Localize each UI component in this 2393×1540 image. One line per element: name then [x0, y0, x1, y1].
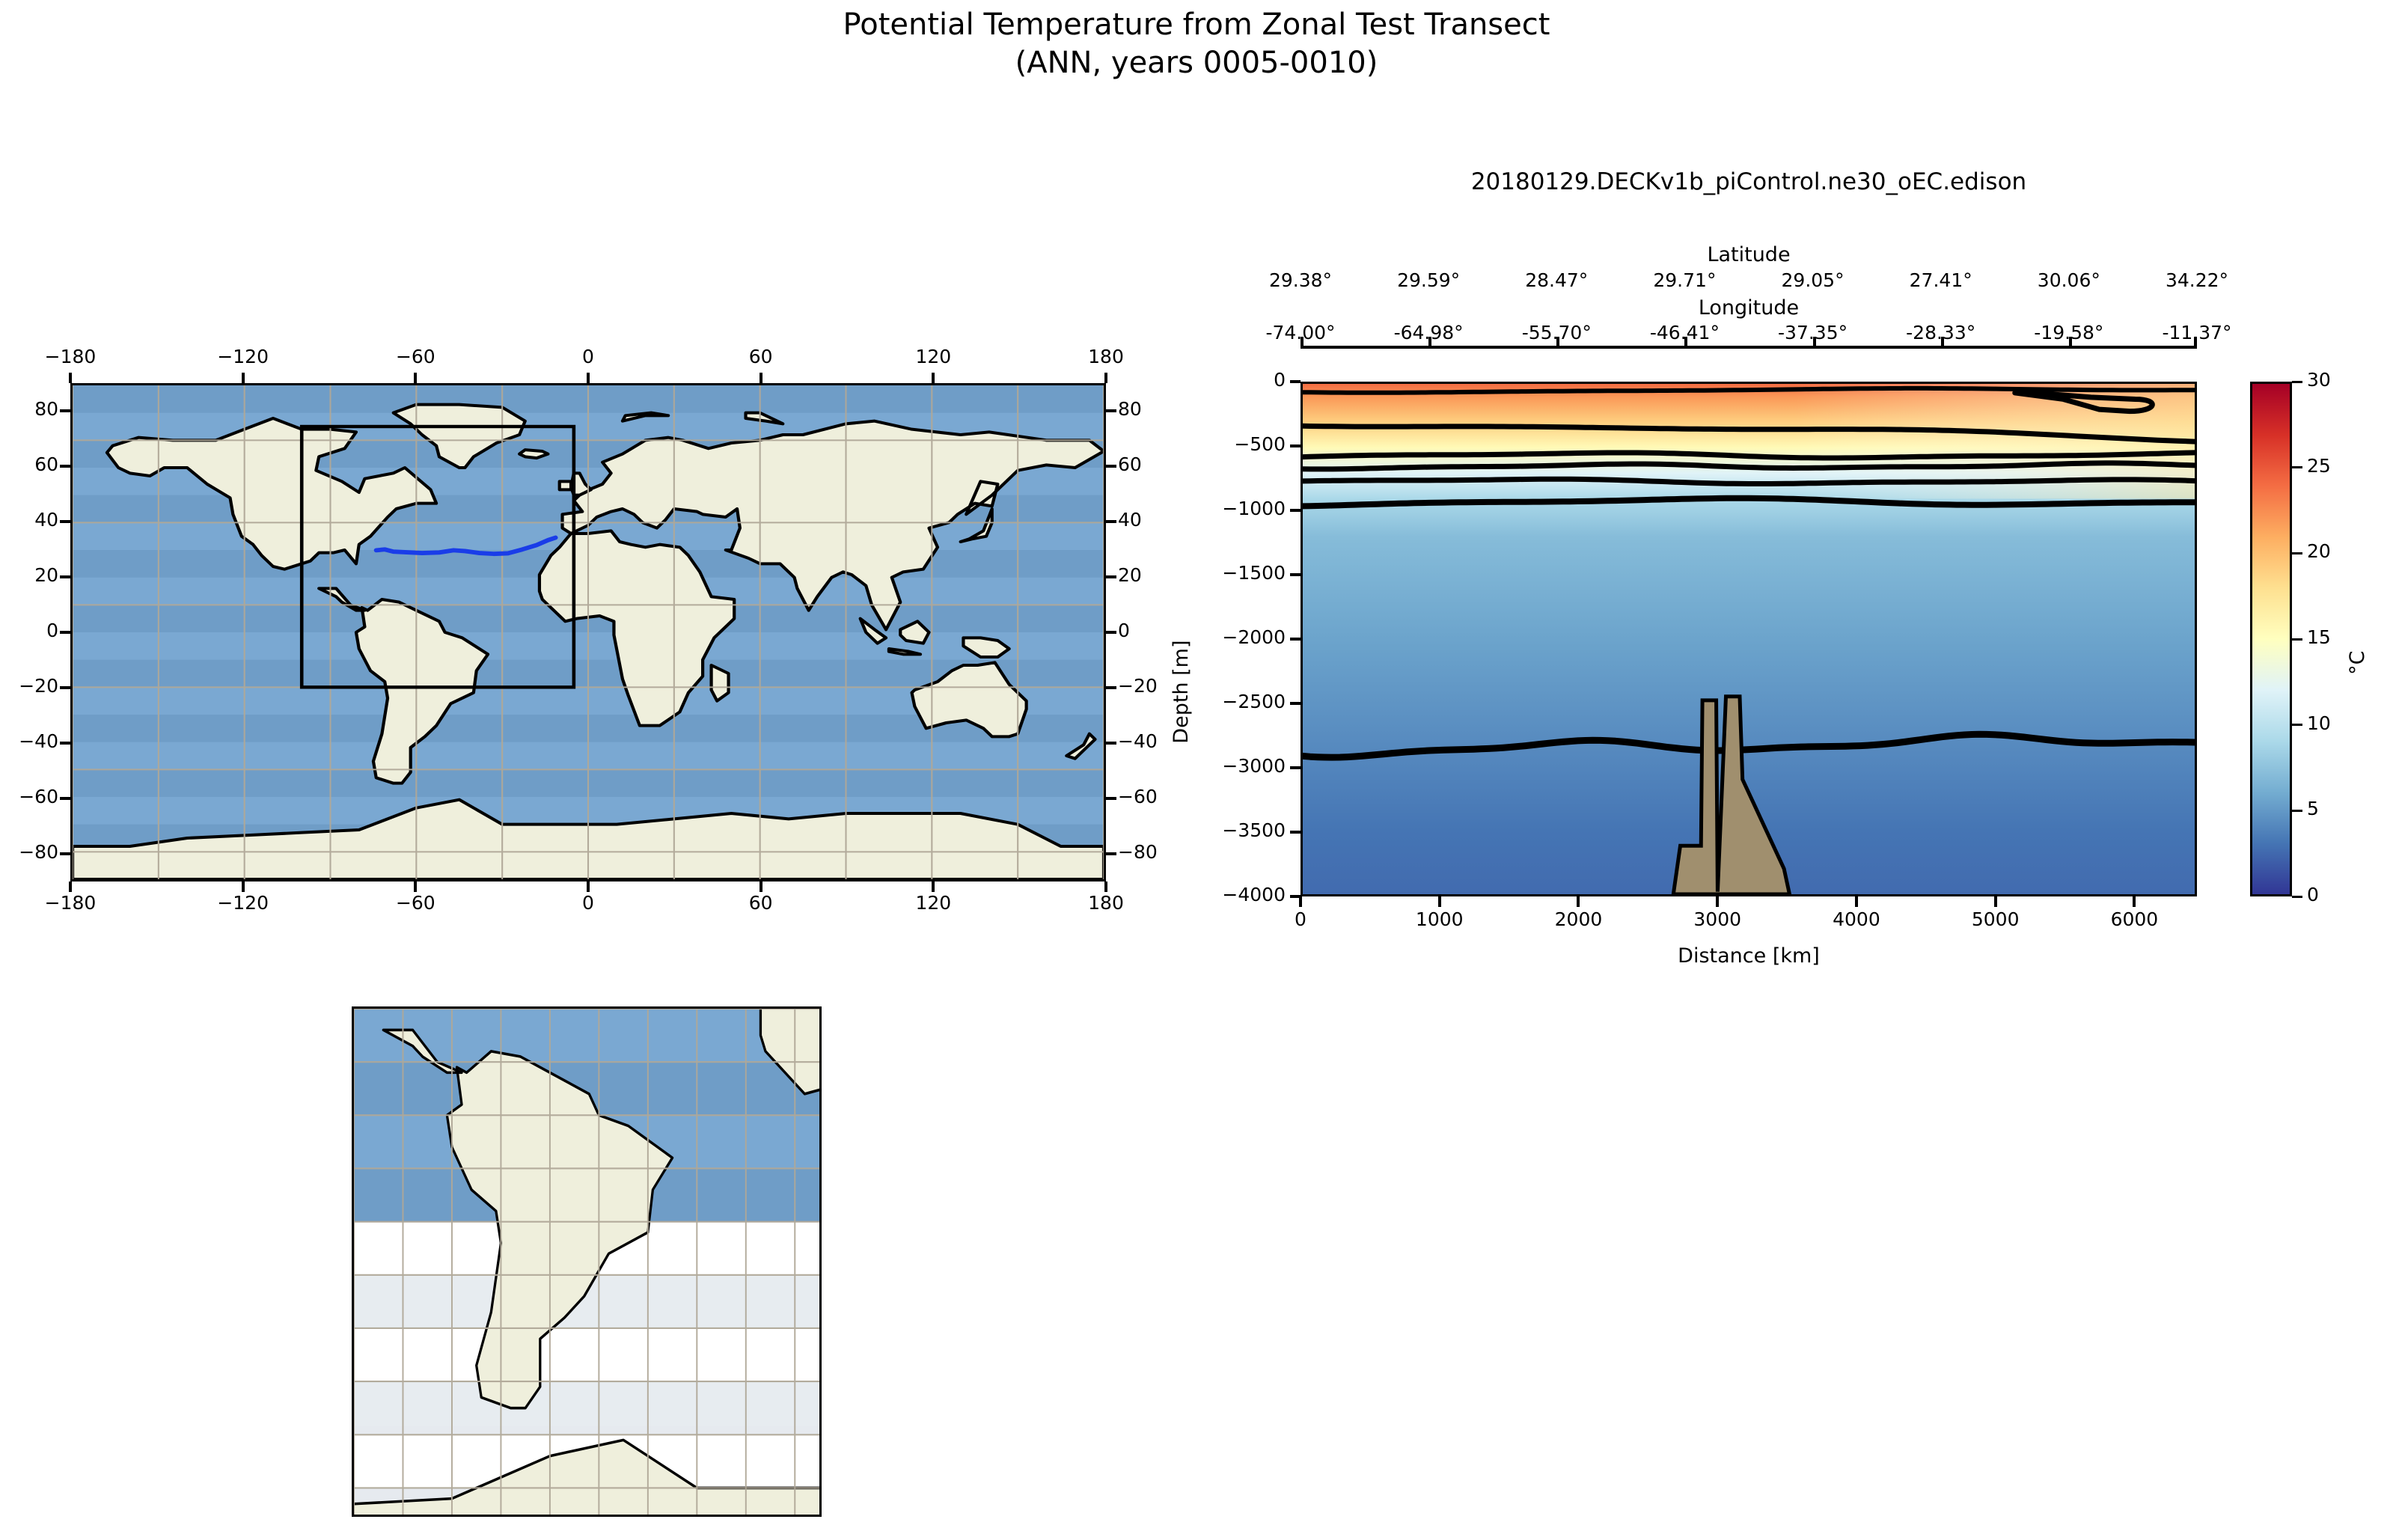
tick-label: 2000 — [1526, 908, 1631, 930]
tick-label: −60 — [370, 892, 460, 914]
tick-label: 0 — [543, 346, 633, 367]
axis-tick-mark — [1290, 831, 1301, 834]
tick-label: 29.59° — [1369, 269, 1488, 291]
temperature-colorbar[interactable] — [2250, 382, 2292, 896]
axis-tick-mark — [60, 409, 70, 412]
axis-tick-mark — [1290, 702, 1301, 705]
axis-tick-mark — [1556, 337, 1559, 347]
tick-label: 3000 — [1665, 908, 1770, 930]
tick-label: 5 — [2307, 798, 2359, 819]
axis-tick-mark — [1106, 631, 1116, 634]
world-map-frame[interactable] — [70, 383, 1106, 881]
axis-tick-mark — [1106, 852, 1116, 855]
axis-tick-mark — [1301, 346, 2197, 349]
tick-label: 28.47° — [1497, 269, 1616, 291]
axis-tick-mark — [60, 465, 70, 468]
colorbar-tick-mark — [2292, 466, 2302, 468]
axis-tick-mark — [932, 373, 935, 383]
axis-tick-mark — [60, 631, 70, 634]
axis-tick-mark — [1855, 896, 1858, 907]
tick-label: −60 — [370, 346, 460, 367]
depth-axis-title: Depth [m] — [1170, 641, 1193, 744]
axis-tick-mark — [1301, 337, 1304, 347]
colorbar-tick-mark — [2292, 896, 2302, 898]
axis-tick-mark — [1106, 575, 1116, 578]
axis-tick-mark — [1941, 337, 1944, 347]
colorbar-axis-title: °C — [2346, 651, 2369, 675]
axis-tick-mark — [1290, 509, 1301, 512]
axis-tick-mark — [1290, 766, 1301, 769]
tick-label: −3500 — [1181, 819, 1286, 841]
tick-label: 80 — [1118, 398, 1190, 420]
tick-label: 0 — [2307, 884, 2359, 905]
axis-tick-mark — [1813, 337, 1816, 347]
axis-tick-mark — [1577, 896, 1580, 907]
axis-tick-mark — [1994, 896, 1997, 907]
axis-tick-mark — [1290, 638, 1301, 641]
axis-tick-mark — [60, 742, 70, 745]
tick-label: 34.22° — [2137, 269, 2257, 291]
distance-axis-title: Distance [km] — [1301, 944, 2197, 968]
tick-label: −2000 — [1181, 626, 1286, 648]
tick-label: −2500 — [1181, 691, 1286, 712]
axis-tick-mark — [1290, 444, 1301, 447]
axis-tick-mark — [1438, 896, 1441, 907]
axis-tick-mark — [414, 881, 417, 892]
tick-label: 80 — [0, 398, 58, 420]
colorbar-tick-mark — [2292, 552, 2302, 554]
tick-label: 20 — [1118, 564, 1190, 586]
tick-label: 0 — [1118, 620, 1190, 641]
tick-label: 120 — [888, 346, 978, 367]
inset-map-frame[interactable] — [352, 1006, 822, 1517]
tick-label: −120 — [198, 892, 288, 914]
axis-tick-mark — [2069, 337, 2072, 347]
axis-tick-mark — [242, 373, 245, 383]
axis-tick-mark — [60, 852, 70, 855]
axis-tick-mark — [60, 575, 70, 578]
tick-label: 30 — [2307, 369, 2359, 391]
tick-label: 20 — [2307, 540, 2359, 562]
axis-tick-mark — [1290, 573, 1301, 576]
axis-tick-mark — [1106, 520, 1116, 523]
tick-label: 4000 — [1804, 908, 1909, 930]
tick-label: 1000 — [1387, 908, 1492, 930]
axis-tick-mark — [60, 520, 70, 523]
axis-tick-mark — [60, 797, 70, 800]
colorbar-tick-mark — [2292, 381, 2302, 383]
axis-tick-mark — [1106, 742, 1116, 745]
axis-tick-mark — [69, 373, 72, 383]
tick-label: −500 — [1181, 433, 1286, 455]
tick-label: 25 — [2307, 455, 2359, 477]
inset-map-canvas[interactable] — [354, 1009, 819, 1515]
tick-label: −80 — [0, 841, 58, 863]
world-map-canvas[interactable] — [73, 385, 1104, 879]
tick-label: 6000 — [2082, 908, 2186, 930]
transect-plot-frame[interactable] — [1301, 382, 2197, 896]
axis-tick-mark — [587, 373, 590, 383]
tick-label: −120 — [198, 346, 288, 367]
tick-label: 40 — [0, 509, 58, 531]
tick-label: −60 — [0, 786, 58, 807]
axis-tick-mark — [1106, 686, 1116, 689]
axis-tick-mark — [1104, 373, 1107, 383]
tick-label: 10 — [2307, 712, 2359, 734]
colorbar-tick-mark — [2292, 724, 2302, 726]
axis-tick-mark — [932, 881, 935, 892]
tick-label: 40 — [1118, 509, 1190, 531]
tick-label: 29.05° — [1753, 269, 1873, 291]
colorbar-tick-mark — [2292, 810, 2302, 812]
axis-tick-mark — [1106, 797, 1116, 800]
tick-label: −1500 — [1181, 562, 1286, 584]
axis-tick-mark — [760, 881, 762, 892]
tick-label: 30.06° — [2009, 269, 2129, 291]
tick-label: 0 — [1248, 908, 1353, 930]
tick-label: 180 — [1061, 346, 1151, 367]
world-map-panel: −180−120−60060120180 −180−120−6006012018… — [0, 0, 1167, 943]
latitude-axis-title: Latitude — [1301, 243, 2197, 266]
tick-label: −3000 — [1181, 755, 1286, 777]
colorbar-gradient — [2252, 384, 2290, 894]
tick-label: 60 — [716, 346, 806, 367]
tick-label: 20 — [0, 564, 58, 586]
axis-tick-mark — [60, 686, 70, 689]
tick-label: −180 — [25, 892, 115, 914]
axis-tick-mark — [1106, 409, 1116, 412]
axis-tick-mark — [2133, 896, 2136, 907]
tick-label: -11.37° — [2137, 322, 2257, 343]
tick-label: −1000 — [1181, 498, 1286, 519]
axis-tick-mark — [1104, 881, 1107, 892]
longitude-axis-title: Longitude — [1301, 296, 2197, 320]
axis-tick-mark — [242, 881, 245, 892]
tick-label: 5000 — [1943, 908, 2048, 930]
axis-tick-mark — [1290, 380, 1301, 383]
axis-tick-mark — [760, 373, 762, 383]
axis-tick-mark — [2194, 337, 2197, 347]
tick-label: 0 — [0, 620, 58, 641]
tick-label: 29.38° — [1241, 269, 1360, 291]
tick-label: 60 — [1118, 453, 1190, 475]
axis-tick-mark — [1106, 465, 1116, 468]
tick-label: 0 — [543, 892, 633, 914]
colorbar-tick-mark — [2292, 638, 2302, 641]
axis-tick-mark — [69, 881, 72, 892]
tick-label: 180 — [1061, 892, 1151, 914]
axis-tick-mark — [1299, 896, 1302, 907]
tick-label: 60 — [716, 892, 806, 914]
axis-tick-mark — [414, 373, 417, 383]
tick-label: −180 — [25, 346, 115, 367]
tick-label: 15 — [2307, 626, 2359, 648]
tick-label: 120 — [888, 892, 978, 914]
axis-tick-mark — [1716, 896, 1719, 907]
tick-label: −4000 — [1181, 884, 1286, 905]
tick-label: 27.41° — [1881, 269, 2001, 291]
tick-label: −40 — [0, 730, 58, 752]
tick-label: 29.71° — [1625, 269, 1744, 291]
tick-label: −60 — [1118, 786, 1190, 807]
axis-tick-mark — [587, 881, 590, 892]
transect-plot-canvas[interactable] — [1303, 384, 2195, 894]
axis-tick-mark — [1428, 337, 1431, 347]
run-name-subtitle: 20180129.DECKv1b_piControl.ne30_oEC.edis… — [1301, 168, 2197, 195]
tick-label: 60 — [0, 453, 58, 475]
axis-tick-mark — [1684, 337, 1687, 347]
tick-label: 0 — [1181, 369, 1286, 391]
tick-label: −80 — [1118, 841, 1190, 863]
tick-label: −20 — [0, 675, 58, 697]
